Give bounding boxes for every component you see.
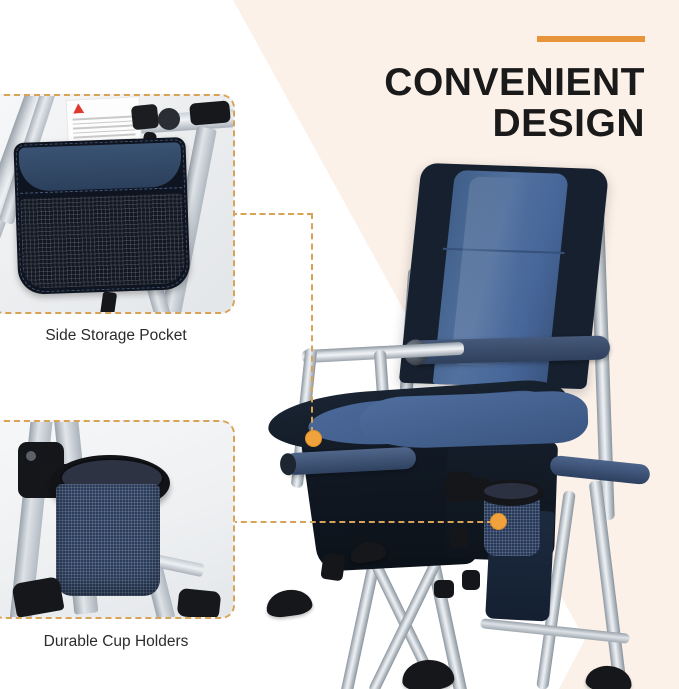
page-title-line-1: CONVENIENT	[384, 62, 645, 103]
frame-hinge-1	[446, 472, 472, 502]
infographic-canvas: CONVENIENT DESIGN Side St	[0, 0, 679, 689]
cupholder-mesh-basket	[56, 484, 160, 596]
connector-dot-durable-cup-holders	[490, 513, 507, 530]
connector-dot-side-storage-pocket	[305, 430, 322, 447]
warning-triangle-icon	[73, 103, 85, 114]
page-title-line-2: DESIGN	[384, 103, 645, 144]
callout-side-storage-pocket	[0, 94, 235, 314]
connector-line-cupholder-horizontal	[231, 521, 493, 523]
connector-line-pocket-vertical	[311, 213, 313, 433]
connector-line-pocket-horizontal	[231, 213, 313, 215]
frame-hinge-3	[320, 553, 345, 582]
callout-durable-cup-holders	[0, 420, 235, 619]
frame-end-cap-c	[189, 100, 231, 125]
chair-foot-front-left	[264, 587, 313, 619]
chair-foot-rear-right	[585, 664, 633, 689]
side-storage-pocket	[13, 137, 190, 295]
caption-durable-cup-holders: Durable Cup Holders	[0, 633, 232, 651]
clamp-screw	[26, 451, 36, 461]
frame-end-cap-a	[131, 104, 159, 131]
frame-end-cap-b	[158, 108, 180, 130]
frame-hinge-5	[462, 570, 480, 590]
caption-side-storage-pocket: Side Storage Pocket	[0, 327, 232, 345]
frame-foot-right	[177, 588, 222, 619]
main-cupholder-opening	[484, 483, 538, 499]
chair-foot-front-center	[401, 658, 455, 689]
frame-hinge-4	[434, 580, 454, 598]
frame-hinge-2	[450, 526, 468, 548]
accent-bar	[537, 36, 645, 42]
pocket-stitching	[15, 139, 188, 293]
product-image-camping-chair	[250, 150, 670, 689]
chair-seat-pan	[359, 390, 589, 450]
page-title-block: CONVENIENT DESIGN	[384, 36, 645, 145]
